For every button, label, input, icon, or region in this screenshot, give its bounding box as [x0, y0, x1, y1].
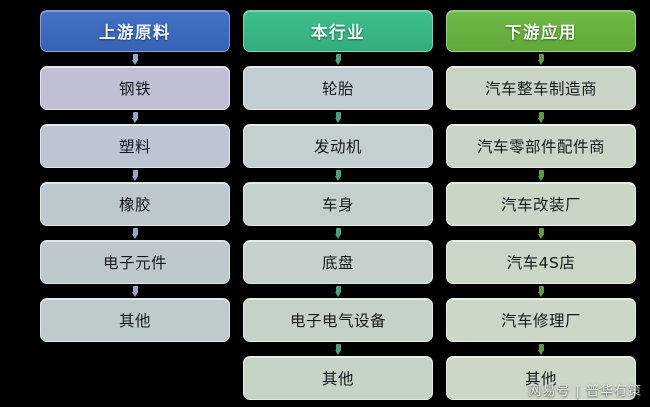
connector-arrow — [40, 168, 230, 182]
chain-node[interactable]: 钢铁 — [40, 66, 230, 110]
chain-node-label: 钢铁 — [119, 77, 151, 99]
chain-node-label: 汽车修理厂 — [501, 309, 581, 331]
chain-node[interactable]: 汽车4S店 — [446, 240, 636, 284]
connector-arrow — [446, 284, 636, 298]
arrow-down-icon — [132, 112, 139, 123]
connector-arrow — [446, 110, 636, 124]
arrow-down-icon — [335, 112, 342, 123]
chain-node-label: 底盘 — [322, 251, 354, 273]
column-header-industry[interactable]: 本行业 — [243, 10, 433, 52]
arrow-down-icon — [538, 286, 545, 297]
arrow-down-icon — [335, 54, 342, 65]
industry-chain-diagram: 上游原料钢铁塑料橡胶电子元件其他本行业轮胎发动机车身底盘电子电气设备其他下游应用… — [0, 0, 650, 407]
connector-arrow — [243, 284, 433, 298]
arrow-down-icon — [538, 54, 545, 65]
connector-arrow — [446, 342, 636, 356]
arrow-down-icon — [132, 228, 139, 239]
chain-node-label: 电子电气设备 — [290, 309, 386, 331]
chain-node[interactable]: 橡胶 — [40, 182, 230, 226]
chain-node-label: 汽车4S店 — [507, 251, 576, 273]
chain-node[interactable]: 其他 — [243, 356, 433, 400]
connector-arrow — [40, 52, 230, 66]
column-header-downstream[interactable]: 下游应用 — [446, 10, 636, 52]
chain-node-label: 电子元件 — [103, 251, 167, 273]
arrow-down-icon — [538, 344, 545, 355]
arrow-down-icon — [335, 170, 342, 181]
connector-arrow — [40, 226, 230, 240]
chain-column-downstream: 下游应用汽车整车制造商汽车零部件配件商汽车改装厂汽车4S店汽车修理厂其他 — [446, 10, 636, 400]
connector-arrow — [243, 168, 433, 182]
chain-node[interactable]: 汽车改装厂 — [446, 182, 636, 226]
connector-arrow — [243, 52, 433, 66]
connector-arrow — [40, 110, 230, 124]
arrow-down-icon — [538, 170, 545, 181]
chain-node[interactable]: 汽车零部件配件商 — [446, 124, 636, 168]
connector-arrow — [446, 52, 636, 66]
chain-column-industry: 本行业轮胎发动机车身底盘电子电气设备其他 — [243, 10, 433, 400]
arrow-down-icon — [335, 286, 342, 297]
arrow-down-icon — [538, 228, 545, 239]
chain-node-label: 轮胎 — [322, 77, 354, 99]
chain-node[interactable]: 汽车整车制造商 — [446, 66, 636, 110]
chain-node[interactable]: 发动机 — [243, 124, 433, 168]
arrow-down-icon — [538, 112, 545, 123]
column-header-label: 下游应用 — [505, 19, 577, 43]
column-header-upstream[interactable]: 上游原料 — [40, 10, 230, 52]
chain-node-label: 其他 — [525, 367, 557, 389]
chain-node-label: 车身 — [322, 193, 354, 215]
chain-node[interactable]: 汽车修理厂 — [446, 298, 636, 342]
connector-arrow — [446, 226, 636, 240]
chain-column-upstream: 上游原料钢铁塑料橡胶电子元件其他 — [40, 10, 230, 342]
connector-arrow — [40, 284, 230, 298]
arrow-down-icon — [132, 286, 139, 297]
chain-node-label: 汽车零部件配件商 — [477, 135, 605, 157]
chain-node[interactable]: 其他 — [446, 356, 636, 400]
chain-node[interactable]: 车身 — [243, 182, 433, 226]
chain-node[interactable]: 电子电气设备 — [243, 298, 433, 342]
chain-node-label: 汽车整车制造商 — [485, 77, 597, 99]
chain-node[interactable]: 塑料 — [40, 124, 230, 168]
chain-node[interactable]: 轮胎 — [243, 66, 433, 110]
chain-node-label: 其他 — [119, 309, 151, 331]
arrow-down-icon — [132, 54, 139, 65]
column-header-label: 本行业 — [311, 19, 365, 43]
arrow-down-icon — [335, 344, 342, 355]
connector-arrow — [446, 168, 636, 182]
chain-node-label: 发动机 — [314, 135, 362, 157]
column-header-label: 上游原料 — [99, 19, 171, 43]
chain-node[interactable]: 其他 — [40, 298, 230, 342]
chain-node-label: 汽车改装厂 — [501, 193, 581, 215]
connector-arrow — [243, 110, 433, 124]
chain-node[interactable]: 底盘 — [243, 240, 433, 284]
chain-node[interactable]: 电子元件 — [40, 240, 230, 284]
chain-node-label: 橡胶 — [119, 193, 151, 215]
arrow-down-icon — [335, 228, 342, 239]
chain-node-label: 塑料 — [119, 135, 151, 157]
arrow-down-icon — [132, 170, 139, 181]
chain-node-label: 其他 — [322, 367, 354, 389]
connector-arrow — [243, 226, 433, 240]
connector-arrow — [243, 342, 433, 356]
